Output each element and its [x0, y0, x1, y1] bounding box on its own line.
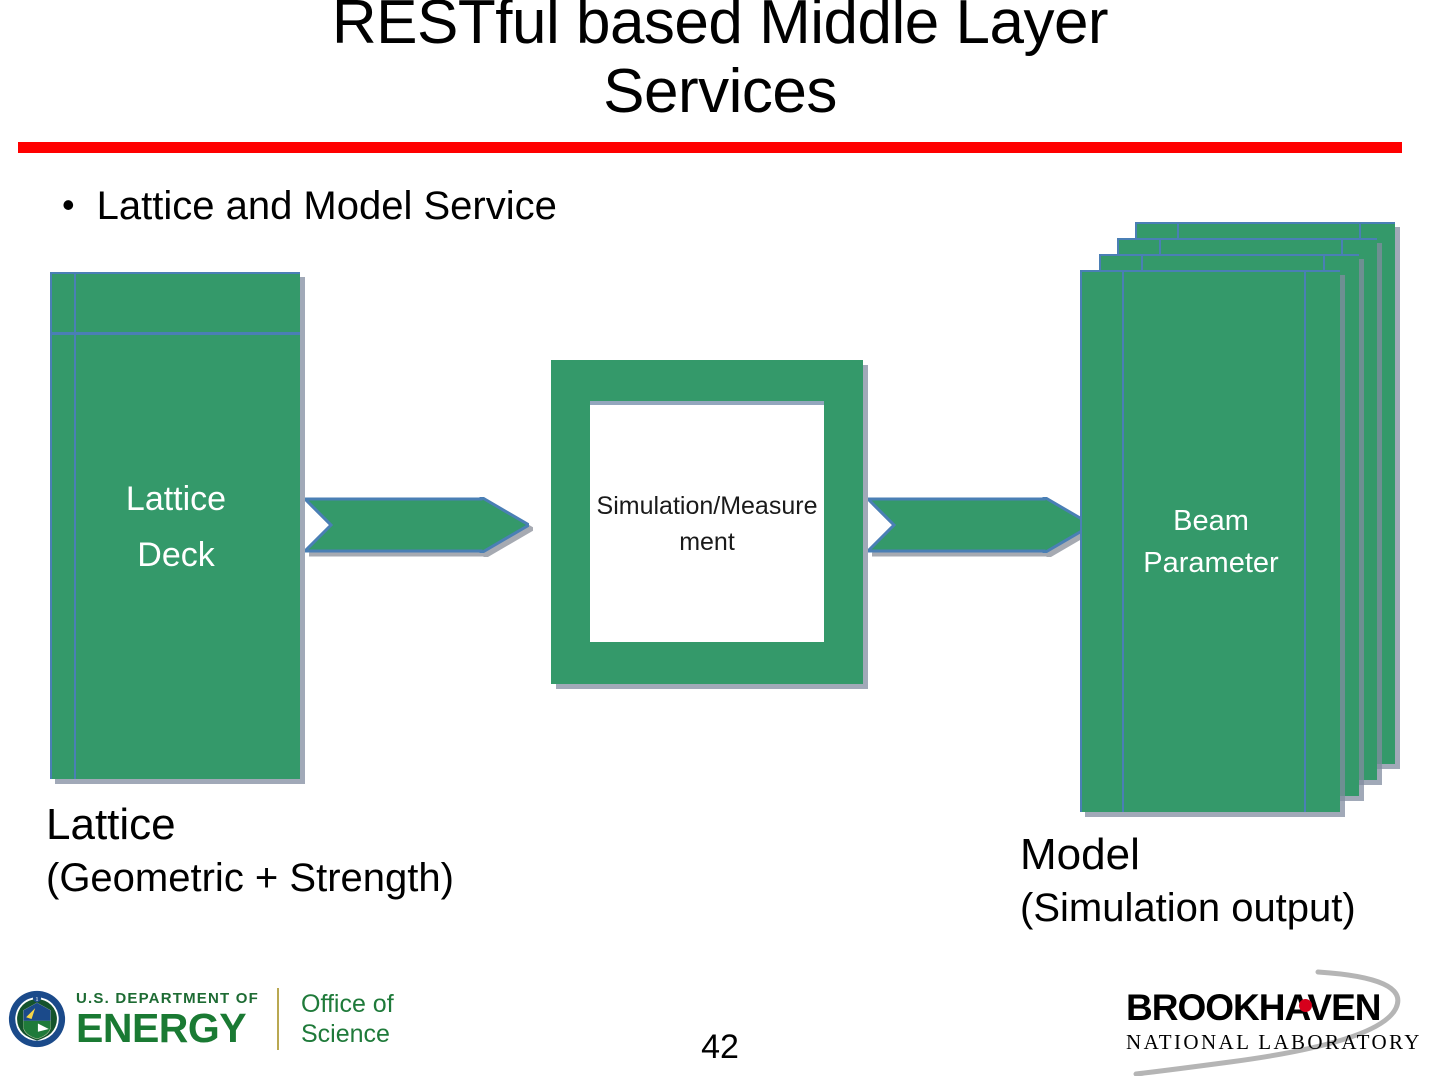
- brookhaven-name-text: BROOKHAVEN: [1126, 988, 1381, 1028]
- caption-lattice-subtitle: (Geometric + Strength): [46, 852, 454, 904]
- caption-lattice: Lattice (Geometric + Strength): [46, 798, 454, 904]
- doe-logo: 1 U.S. DEPARTMENT OF ENERGY Office of Sc…: [8, 988, 394, 1050]
- diagram-node-beam-parameter-label: Beam Parameter: [1082, 500, 1340, 584]
- diagram-node-simulation-measurement: Simulation/Measurement: [551, 360, 863, 684]
- brookhaven-subtitle-text: NATIONAL LABORATORY: [1126, 1030, 1422, 1054]
- arrow-simulation-to-beam-parameter-icon: [868, 497, 1092, 553]
- doe-agency-text: ENERGY: [76, 1007, 259, 1049]
- doe-logo-divider: [277, 988, 279, 1050]
- doe-seal-icon: 1: [8, 990, 66, 1048]
- doe-office-text: Office of Science: [301, 989, 394, 1049]
- svg-text:1: 1: [35, 996, 38, 1003]
- diagram-node-lattice-deck-label: Lattice Deck: [52, 471, 300, 583]
- diagram-node-simulation-measurement-inner: Simulation/Measurement: [590, 401, 824, 642]
- diagram-node-simulation-measurement-label: Simulation/Measurement: [590, 488, 824, 560]
- brookhaven-logo: BROOKHAVEN NATIONAL LABORATORY: [1110, 966, 1430, 1076]
- doe-department-text: U.S. DEPARTMENT OF: [76, 990, 259, 1007]
- caption-model-subtitle: (Simulation output): [1020, 882, 1356, 934]
- caption-lattice-title: Lattice: [46, 798, 454, 852]
- document-header-line: [52, 332, 300, 335]
- diagram-node-lattice-deck: Lattice Deck: [50, 272, 300, 779]
- diagram-node-beam-parameter-stack: Beam Parameter: [1080, 222, 1410, 812]
- arrow-lattice-deck-to-simulation-icon: [305, 497, 529, 553]
- caption-model: Model (Simulation output): [1020, 828, 1356, 934]
- doe-wordmark: U.S. DEPARTMENT OF ENERGY: [76, 990, 259, 1049]
- beam-parameter-card-front: Beam Parameter: [1080, 270, 1340, 812]
- brookhaven-red-dot-icon: [1299, 999, 1312, 1012]
- caption-model-title: Model: [1020, 828, 1356, 882]
